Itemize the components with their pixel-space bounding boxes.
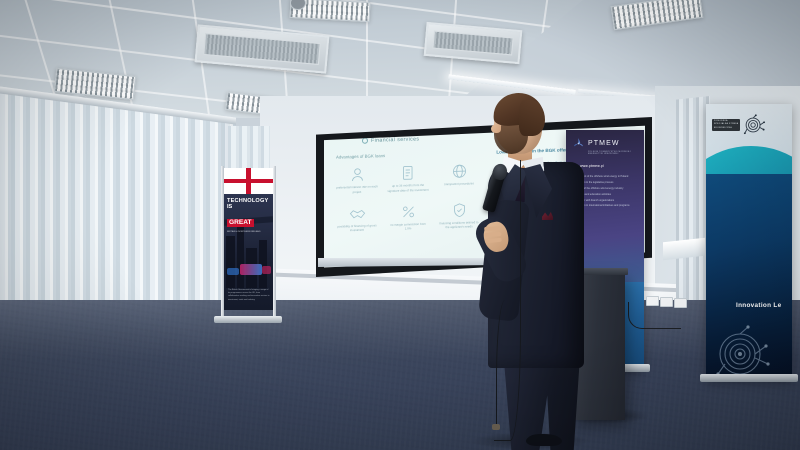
slide-icon-cell: up to 36 months from the signature date … bbox=[387, 164, 429, 193]
presenter-nose bbox=[491, 124, 501, 133]
technology-is-great-banner: TECHNOLOGY IS GREAT BRITAIN & NORTHERN I… bbox=[221, 166, 276, 318]
globe-icon bbox=[451, 163, 468, 181]
shield-hand-icon bbox=[451, 202, 468, 220]
psez-body: Innovation Le www.strefa.gda.pl invest@s… bbox=[706, 174, 792, 380]
conference-room-photo: Financial services Advantages of BGK loa… bbox=[0, 0, 800, 450]
slide-icon-caption: preferential interest rate on each proje… bbox=[336, 185, 378, 195]
banner-headline-block: TECHNOLOGY IS GREAT BRITAIN & NORTHERN I… bbox=[227, 198, 271, 234]
psez-logo-text-block: POMORSKA SPECJALNA STREFA EKONOMICZNA bbox=[712, 119, 740, 132]
banner-paragraph: The British Government is bringing a ran… bbox=[228, 289, 270, 302]
ptmew-tagline: POLSKIE TOWARZYSTWO MORSKIEJ ENERGETYKI … bbox=[588, 151, 644, 155]
banner-face: TECHNOLOGY IS GREAT BRITAIN & NORTHERN I… bbox=[224, 168, 273, 310]
banner-subtitle: BRITAIN & NORTHERN IRELAND bbox=[227, 231, 271, 234]
percent-chart-icon bbox=[400, 203, 417, 221]
psez-headline: Innovation Le bbox=[736, 302, 781, 309]
uk-banner-base bbox=[214, 316, 282, 323]
slide-icon-caption: no margin commission from 1.0% bbox=[387, 222, 429, 232]
psez-logo-line-3: EKONOMICZNA bbox=[714, 127, 738, 130]
slide-icon-cell: no margin commission from 1.0% bbox=[387, 203, 429, 232]
banner-line-1: TECHNOLOGY bbox=[227, 198, 271, 204]
banner-line-2: IS bbox=[227, 204, 271, 210]
user-check-icon bbox=[349, 166, 366, 184]
cable-plug bbox=[492, 424, 500, 430]
presenter-shoe bbox=[526, 434, 562, 446]
slide-left-column: Advantages of BGK loans preferential int… bbox=[336, 150, 482, 245]
ac-grille bbox=[203, 33, 320, 65]
union-jack-icon bbox=[224, 168, 273, 194]
ac-grille-2 bbox=[432, 31, 513, 56]
banner-line-3: GREAT bbox=[227, 219, 254, 227]
document-clock-icon bbox=[400, 164, 417, 182]
slide-icon-cell: possibility of financing of gross invest… bbox=[336, 204, 378, 233]
psez-banner-base bbox=[700, 374, 798, 382]
slide-icon-caption: possibility of financing of gross invest… bbox=[336, 223, 378, 233]
presenter-hair-side bbox=[519, 100, 545, 136]
fingerprint-circuit-icon bbox=[714, 324, 774, 380]
slide-icon-row-2: possibility of financing of gross invest… bbox=[336, 201, 482, 233]
psez-logo: POMORSKA SPECJALNA STREFA EKONOMICZNA bbox=[712, 114, 765, 136]
banner-pole-right bbox=[273, 166, 276, 318]
slide-icon-row-1: preferential interest rate on each proje… bbox=[336, 162, 482, 194]
slide-left-subheading: Advantages of BGK loans bbox=[336, 150, 482, 160]
bullet-dot-icon bbox=[362, 138, 368, 144]
handshake-icon bbox=[349, 205, 366, 223]
floor-power-cable bbox=[628, 302, 681, 329]
psez-fingerprint-icon bbox=[743, 114, 765, 136]
presenter bbox=[466, 96, 596, 450]
slide-icon-cell: preferential interest rate on each proje… bbox=[336, 166, 378, 195]
psez-banner: Innovation Le www.strefa.gda.pl invest@s… bbox=[706, 104, 792, 380]
microphone-cable-lower bbox=[496, 300, 511, 430]
slide-icon-caption: up to 36 months from the signature date … bbox=[387, 183, 429, 193]
